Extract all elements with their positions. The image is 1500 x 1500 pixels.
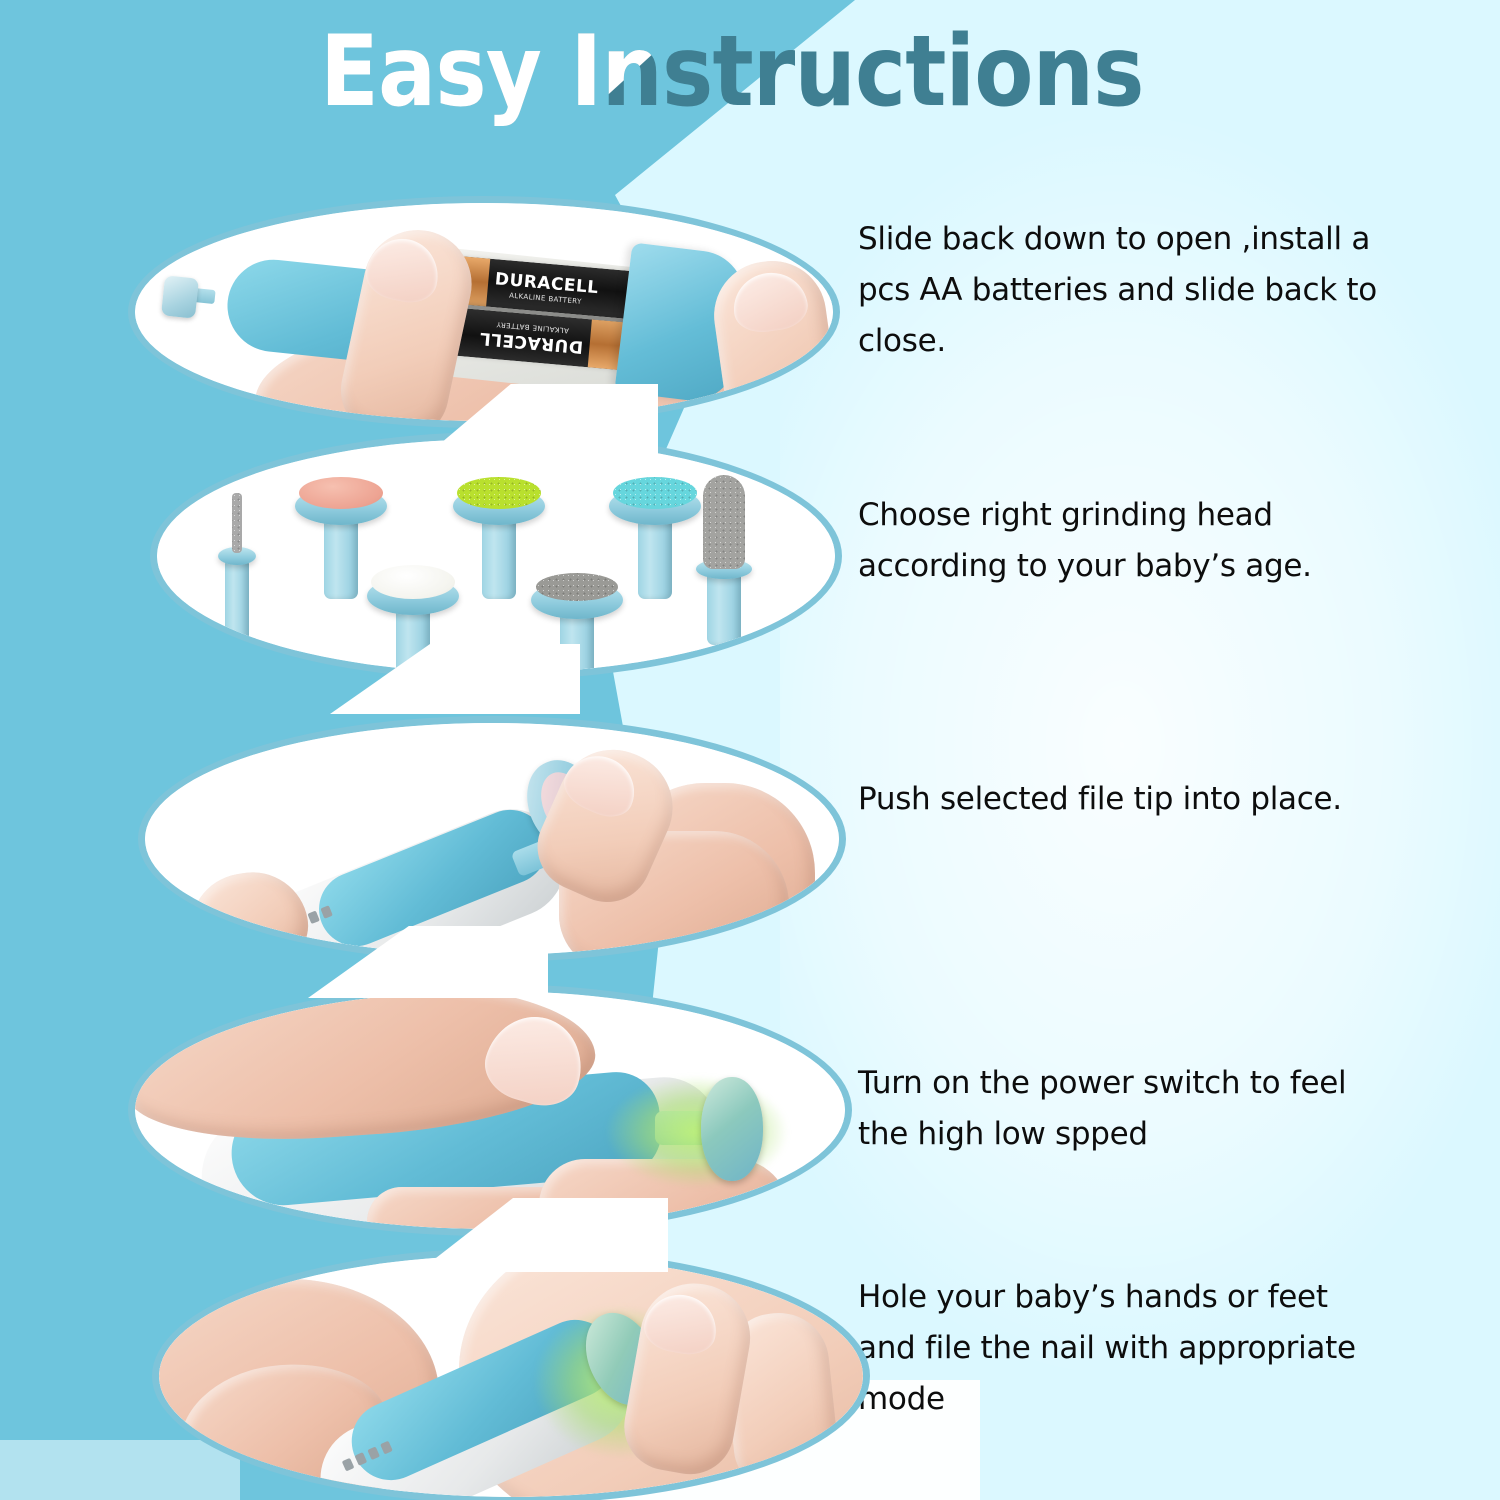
step-1-illustration: DURACELL ALKALINE BATTERY DURACELL ALKAL…	[128, 196, 840, 428]
scene-battery-install: DURACELL ALKALINE BATTERY DURACELL ALKAL…	[135, 203, 833, 421]
grey-disc-surface	[536, 573, 618, 601]
step-2-text: Choose right grinding head according to …	[858, 490, 1388, 592]
attached-file-head	[701, 1077, 763, 1181]
step-3-text: Push selected file tip into place.	[858, 774, 1388, 825]
step-1-text: Slide back down to open ,install a pcs A…	[858, 214, 1388, 367]
step-2-ellipse	[150, 432, 842, 680]
white-disc-surface	[371, 565, 455, 599]
step-5-ellipse	[152, 1248, 870, 1500]
step-3-illustration	[138, 716, 846, 962]
scene-power-on	[135, 991, 845, 1229]
left-thumb	[182, 863, 315, 955]
grinding-head-grey-cone-tip	[687, 463, 761, 649]
needle-file-grit	[232, 493, 242, 553]
cone-grit-surface	[703, 475, 745, 569]
grinding-head-needle-file-tip	[209, 485, 265, 645]
step-5-text: Hole your baby’s hands or feet and file …	[858, 1272, 1388, 1425]
step-4-illustration	[128, 984, 852, 1236]
step-1-ellipse: DURACELL ALKALINE BATTERY DURACELL ALKAL…	[128, 196, 840, 428]
step-2-illustration	[150, 432, 842, 680]
scene-filing-baby-nail	[159, 1255, 863, 1497]
green-disc-surface	[457, 477, 541, 509]
scene-push-file-tip	[145, 723, 839, 955]
scene-grinding-heads	[157, 439, 835, 673]
pink-disc-surface	[299, 477, 383, 509]
instruction-steps: Slide back down to open ,install a pcs A…	[858, 0, 1418, 1500]
step-4-text: Turn on the power switch to feel the hig…	[858, 1058, 1388, 1160]
device-end-cap	[161, 275, 199, 318]
step-3-ellipse	[138, 716, 846, 962]
step-5-illustration	[152, 1248, 870, 1500]
cyan-disc-surface	[613, 477, 697, 509]
infographic-canvas: Easy Instructions Easy Instructions	[0, 0, 1500, 1500]
step-4-ellipse	[128, 984, 852, 1236]
